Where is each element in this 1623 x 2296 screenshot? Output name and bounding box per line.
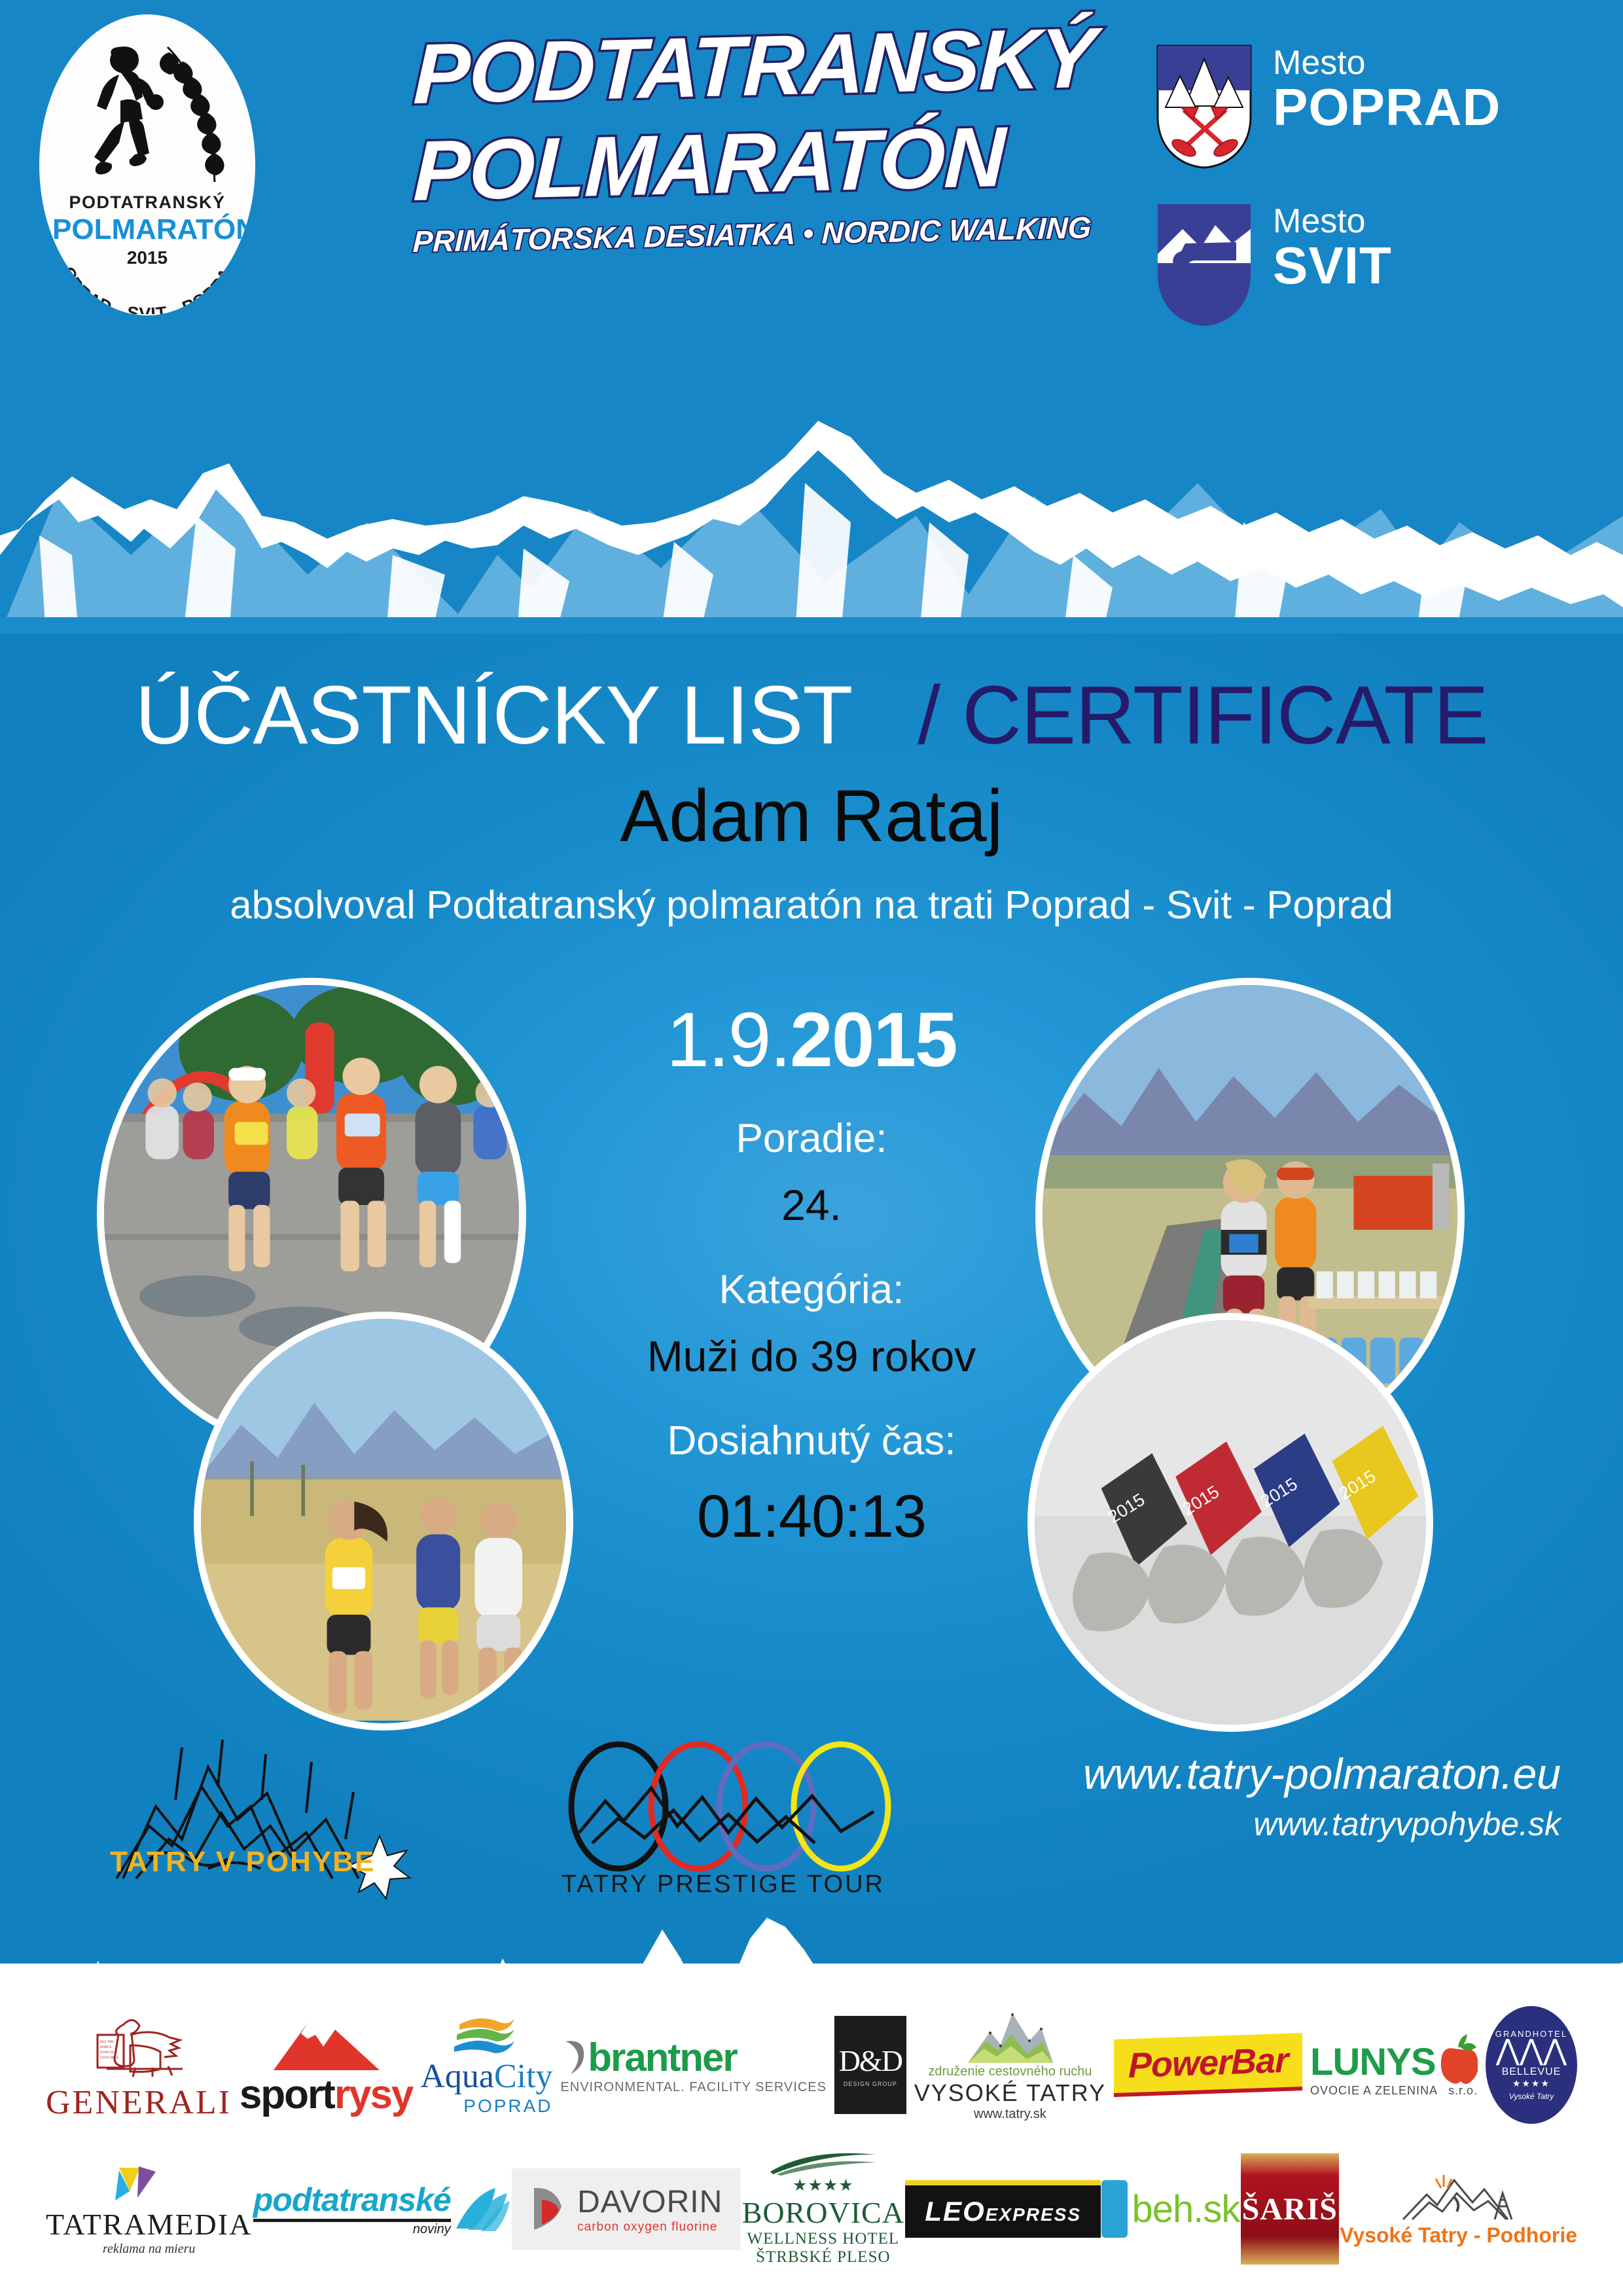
vysoke-tatry-url[interactable]: www.tatry.sk — [974, 2107, 1046, 2122]
behsk-mark-icon — [1101, 2180, 1128, 2238]
leoexpress-sub: EXPRESS — [986, 2204, 1081, 2225]
sponsor-davorin: DAVORIN carbon oxygen fluorine — [512, 2168, 741, 2250]
certificate-title: ÚČASTNÍCKY LIST / CERTIFICATE — [0, 668, 1623, 762]
sponsor-saris: ŠARIŠ — [1241, 2153, 1339, 2265]
lunys-wordmark: LUNYS — [1310, 2040, 1436, 2084]
podtatranske-wordmark: podtatranské — [253, 2181, 451, 2219]
svg-text:MARCE: MARCE — [100, 2046, 112, 2049]
sportrysy-text-b: rysy — [334, 2072, 413, 2117]
aquacity-text-d: ity — [517, 2058, 553, 2095]
sponsor-behsk: beh.sk — [1101, 2180, 1240, 2238]
borovica-swoosh-icon — [768, 2152, 879, 2176]
davorin-mark-icon — [530, 2185, 568, 2233]
time-label: Dosiahnutý čas: — [550, 1418, 1073, 1464]
svit-label-small: Mesto — [1273, 204, 1392, 238]
sponsor-vysoke-tatry-podhorie: Vysoké Tatry - Podhorie — [1340, 2171, 1577, 2248]
photo-field-runners-image — [201, 1319, 566, 1721]
lunys-sub: OVOCIE A ZELENINA — [1310, 2084, 1438, 2098]
brantner-mark-icon — [560, 2039, 588, 2077]
borovica-wordmark: BOROVICA — [742, 2195, 904, 2230]
sponsor-dd: D&D DESIGN GROUP — [834, 2016, 906, 2114]
photo-medals: 2015 2015 2015 2015 — [1027, 1313, 1433, 1732]
certificate-title-en: / CERTIFICATE — [918, 669, 1488, 761]
brantner-wordmark: brantner — [588, 2035, 736, 2080]
sportrysy-mountain-icon — [267, 2013, 385, 2072]
grandhotel-peaks-icon: ⋀⋀⋀ — [1496, 2039, 1567, 2062]
grandhotel-bottom: Vysoké Tatry — [1509, 2092, 1554, 2101]
aquacity-text-c: C — [494, 2058, 517, 2095]
photo-field-runners — [194, 1312, 573, 1731]
brantner-sub: ENVIRONMENTAL. FACILITY SERVICES — [560, 2080, 827, 2095]
race-date-year: 2015 — [790, 997, 957, 1083]
category-value: Muži do 39 rokov — [550, 1331, 1073, 1381]
sponsor-podtatranske-noviny: podtatranské noviny — [253, 2181, 511, 2237]
aquacity-text-a: A — [420, 2058, 445, 2095]
sponsor-generali: PAX TIBIMARCE EVAN GELISTA MEUS GENERALI — [46, 2009, 232, 2122]
tatramedia-wordmark: TATRAMEDIA — [46, 2207, 252, 2242]
sponsor-borovica: ★★★★ BOROVICA WELLNESS HOTEL ŠTRBSKÉ PLE… — [742, 2152, 904, 2267]
borovica-sub1: WELLNESS HOTEL — [747, 2230, 899, 2248]
vysoke-tatry-mountain-icon — [964, 2008, 1056, 2064]
result-block: 1.9.2015 Poradie: 24. Kategória: Muži do… — [550, 1001, 1073, 1551]
svg-text:LISTA MEUS: LISTA MEUS — [100, 2056, 119, 2060]
event-title-line2: POLMARATÓN — [412, 111, 1122, 213]
sponsor-vysoke-tatry: združenie cestovného ruchu VYSOKÉ TATRY … — [914, 2008, 1106, 2122]
leoexpress-wordmark: LEOEXPRESS — [925, 2196, 1081, 2227]
event-title-line1: PODTATRANSKÝ — [412, 14, 1122, 117]
certificate-page: PODTATRANSKÝ POLMARATÓN 2015 POPRAD - SV… — [0, 0, 1623, 2296]
aquacity-wave-icon — [450, 2014, 522, 2057]
aquacity-sub: POPRAD — [420, 2096, 552, 2117]
tatramedia-mark-icon — [110, 2161, 188, 2207]
podtatranske-fan-icon — [451, 2183, 511, 2235]
aquacity-wordmark: AquaCity — [420, 2057, 552, 2096]
borovica-stars: ★★★★ — [793, 2176, 854, 2195]
participant-name: Adam Rataj — [0, 774, 1623, 858]
poprad-crest-icon — [1155, 45, 1253, 169]
certificate-title-sk: ÚČASTNÍCKY LIST — [135, 669, 851, 761]
svit-label-big: SVIT — [1273, 238, 1392, 293]
event-subtitle: PRIMÁTORSKA DESIATKA • NORDIC WALKING — [412, 209, 1121, 259]
tatramedia-sub: reklama na mieru — [103, 2242, 195, 2257]
svg-text:PAX TIBI: PAX TIBI — [100, 2041, 114, 2044]
svg-text:EVAN GE: EVAN GE — [100, 2051, 114, 2054]
svit-text: Mesto SVIT — [1273, 204, 1392, 293]
aquacity-text-b: qua — [445, 2058, 494, 2095]
grandhotel-wordmark: BELLEVUE — [1502, 2066, 1561, 2078]
organizer-label: TATRY V POHYBE — [110, 1846, 385, 1878]
lunys-suffix: s.r.o. — [1448, 2084, 1478, 2098]
poprad-label-small: Mesto — [1273, 46, 1501, 80]
sponsor-leo-express: LEOEXPRESS — [905, 2180, 1101, 2238]
podtatranske-sub: noviny — [413, 2222, 451, 2237]
sponsor-sportrysy: sportrysy — [240, 2013, 413, 2118]
grandhotel-stars: ★★★★ — [1512, 2078, 1550, 2089]
generali-wordmark: GENERALI — [46, 2083, 232, 2122]
behsk-wordmark: beh.sk — [1132, 2187, 1240, 2231]
leoexpress-text: LEO — [925, 2196, 985, 2227]
dd-wordmark: D&D — [839, 2043, 902, 2078]
race-date-daymonth: 1.9. — [666, 997, 790, 1083]
borovica-sub2: ŠTRBSKÉ PLESO — [756, 2248, 890, 2267]
sponsor-lunys: LUNYS OVOCIE A ZELENINA s.r.o. — [1310, 2033, 1478, 2098]
laurel-icon — [156, 42, 241, 192]
poprad-label-big: POPRAD — [1273, 80, 1501, 135]
mountain-band-decoration — [0, 359, 1623, 634]
sponsor-row-2: TATRAMEDIA reklama na mieru podtatranské… — [0, 2153, 1623, 2265]
sportrysy-text-a: sport — [240, 2072, 334, 2117]
sponsor-brantner: brantner ENVIRONMENTAL. FACILITY SERVICE… — [560, 2035, 827, 2095]
badge-route-text: POPRAD - SVIT - POPRAD — [51, 249, 236, 314]
dd-sub: DESIGN GROUP — [844, 2081, 897, 2087]
rank-value: 24. — [550, 1180, 1073, 1230]
certificate-description: absolvoval Podtatranský polmaratón na tr… — [0, 882, 1623, 927]
photo-medals-image: 2015 2015 2015 2015 — [1035, 1320, 1426, 1732]
svit-crest-icon — [1155, 203, 1253, 327]
podhorie-mountain-icon — [1397, 2171, 1521, 2223]
generali-lion-icon: PAX TIBIMARCE EVAN GELISTA MEUS — [90, 2009, 188, 2081]
poprad-text: Mesto POPRAD — [1273, 46, 1501, 135]
davorin-sub: carbon oxygen fluorine — [577, 2220, 722, 2234]
vysoke-tatry-sub1: združenie cestovného ruchu — [928, 2064, 1092, 2079]
sponsor-row-1: PAX TIBIMARCE EVAN GELISTA MEUS GENERALI… — [0, 2003, 1623, 2127]
sponsor-tatramedia: TATRAMEDIA reklama na mieru — [46, 2161, 252, 2257]
sponsor-grandhotel-bellevue: GRANDHOTEL ⋀⋀⋀ BELLEVUE ★★★★ Vysoké Tatr… — [1486, 2006, 1577, 2124]
website-primary[interactable]: www.tatry-polmaraton.eu — [952, 1749, 1561, 1799]
rank-label: Poradie: — [550, 1115, 1073, 1162]
tour-label: TATRY PRESTIGE TOUR — [553, 1871, 893, 1899]
event-logo-badge: PODTATRANSKÝ POLMARATÓN 2015 POPRAD - SV… — [39, 14, 255, 315]
badge-route-arc: POPRAD - SVIT - POPRAD — [51, 249, 243, 314]
category-label: Kategória: — [550, 1266, 1073, 1313]
race-date: 1.9.2015 — [550, 1001, 1073, 1079]
sponsor-powerbar: PowerBar — [1114, 2033, 1302, 2097]
time-value: 01:40:13 — [550, 1482, 1073, 1551]
saris-wordmark: ŠARIŠ — [1242, 2191, 1338, 2227]
podhorie-wordmark: Vysoké Tatry - Podhorie — [1340, 2223, 1577, 2248]
sponsor-aquacity: AquaCity POPRAD — [420, 2014, 552, 2117]
tatry-prestige-tour-icon — [553, 1728, 893, 1892]
event-title-block: PODTATRANSKÝ POLMARATÓN PRIMÁTORSKA DESI… — [412, 31, 1119, 259]
badge-line2: POLMARATÓN — [52, 213, 242, 246]
powerbar-wordmark: PowerBar — [1128, 2040, 1288, 2087]
website-secondary[interactable]: www.tatryvpohybe.sk — [952, 1805, 1561, 1843]
sportrysy-wordmark: sportrysy — [240, 2072, 413, 2118]
davorin-wordmark: DAVORIN — [577, 2184, 722, 2220]
vysoke-tatry-wordmark: VYSOKÉ TATRY — [914, 2079, 1106, 2107]
lunys-apple-icon — [1436, 2033, 1478, 2084]
badge-line1: PODTATRANSKÝ — [59, 192, 236, 213]
